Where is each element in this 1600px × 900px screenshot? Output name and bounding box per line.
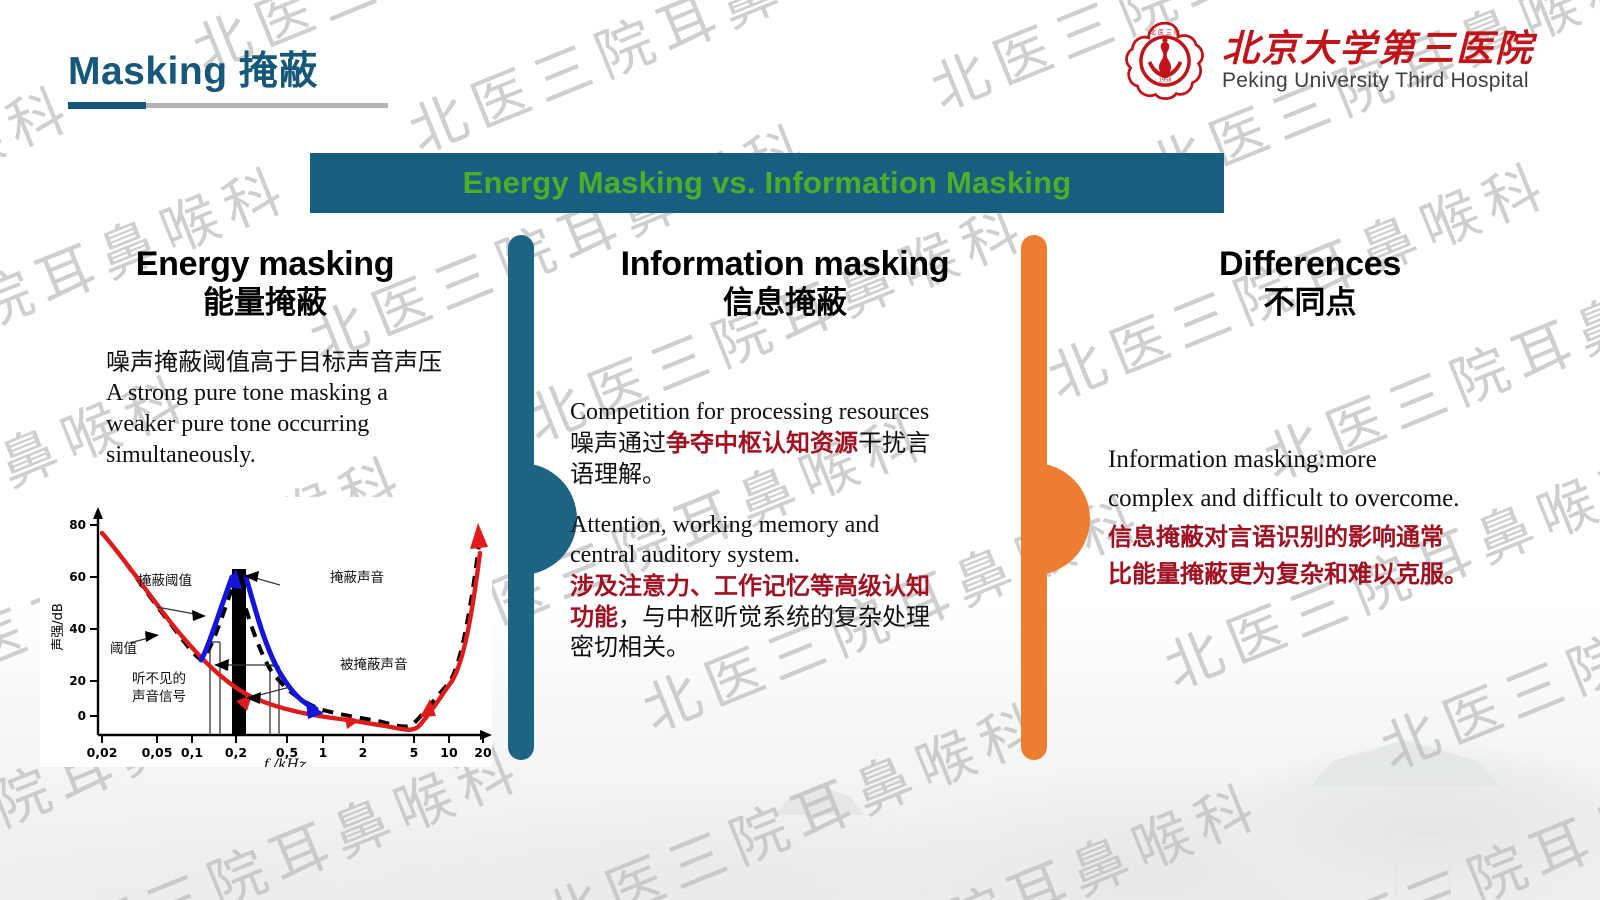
column-heading-cn: 信息掩蔽 [570, 283, 1000, 323]
section-banner: Energy Masking vs. Information Masking [310, 153, 1224, 213]
column-heading-en: Information masking [570, 245, 1000, 283]
column-heading-en: Differences [1090, 245, 1530, 283]
svg-text:声音信号: 声音信号 [132, 688, 186, 705]
svg-text:80: 80 [69, 518, 86, 532]
svg-text:阈值: 阈值 [110, 641, 137, 657]
hospital-logo-text: 北京大学第三医院 Peking University Third Hospita… [1222, 29, 1534, 94]
hospital-logo: 1958 北 医 三 院 北京大学第三医院 Peking University … [1122, 18, 1534, 104]
body-line: 语理解。 [570, 459, 1000, 490]
svg-text:40: 40 [69, 622, 86, 636]
column-heading: Differences 不同点 [1090, 245, 1530, 323]
background-gate-shape [1395, 836, 1451, 896]
body-line: 噪声掩蔽阈值高于目标声音声压 [106, 347, 490, 378]
column-heading-cn: 不同点 [1090, 283, 1530, 323]
body-line-mixed: 功能，与中枢听觉系统的复杂处理 [570, 602, 1000, 633]
svg-text:掩蔽声音: 掩蔽声音 [330, 569, 384, 586]
column-body: Competition for processing resources 噪声通… [570, 397, 1000, 663]
svg-text:0: 0 [78, 709, 86, 723]
column-differences: Differences 不同点 Information masking:more… [1090, 245, 1530, 593]
hospital-name-cn: 北京大学第三医院 [1222, 29, 1534, 68]
body-line-prefix: 噪声通过 [570, 429, 666, 457]
svg-text:听不见的: 听不见的 [132, 671, 186, 687]
svg-text:10: 10 [440, 745, 458, 760]
body-line-highlight: 功能 [570, 603, 618, 631]
body-line: Attention, working memory and [570, 510, 1000, 541]
paragraph-gap [570, 490, 1000, 510]
svg-text:f /kHz: f /kHz [263, 757, 307, 767]
body-line-highlight: 涉及注意力、工作记忆等高级认知 [570, 571, 1000, 602]
column-heading: Energy masking 能量掩蔽 [40, 245, 490, 323]
column-information-masking: Information masking 信息掩蔽 Competition for… [570, 245, 1000, 663]
svg-text:60: 60 [69, 570, 86, 584]
column-body: 噪声掩蔽阈值高于目标声音声压 A strong pure tone maskin… [40, 347, 490, 470]
body-line-suffix: ，与中枢听觉系统的复杂处理 [618, 603, 930, 631]
svg-text:1: 1 [319, 745, 328, 760]
background-roof-shape [1310, 740, 1500, 786]
svg-text:20: 20 [69, 674, 86, 688]
body-line: weaker pure tone occurring [106, 409, 490, 440]
svg-text:被掩蔽声音: 被掩蔽声音 [340, 656, 408, 673]
body-line: A strong pure tone masking a [106, 378, 490, 409]
body-line-highlight: 信息掩蔽对言语识别的影响通常 [1108, 519, 1530, 556]
body-line-mixed: 噪声通过争夺中枢认知资源干扰言 [570, 428, 1000, 459]
column-heading-en: Energy masking [40, 245, 490, 283]
body-line: 密切相关。 [570, 632, 1000, 663]
svg-text:北 医 三 院: 北 医 三 院 [1150, 28, 1180, 36]
column-heading: Information masking 信息掩蔽 [570, 245, 1000, 323]
svg-text:0,05: 0,05 [142, 745, 173, 760]
teal-divider-bulge [521, 463, 577, 575]
svg-text:0,02: 0,02 [87, 745, 118, 760]
body-line: central auditory system. [570, 540, 1000, 571]
svg-text:掩蔽阈值: 掩蔽阈值 [138, 573, 192, 589]
masking-threshold-chart: 80 60 40 20 0 0,02 0,05 0,1 0,2 0,5 1 [40, 497, 492, 767]
title-rule-accent [68, 102, 146, 109]
watermark-text: 北医三院耳鼻喉科 北医三院耳鼻喉科 北医三院耳鼻喉科 北医三院耳鼻喉科 北医三院… [142, 885, 1600, 900]
column-body: Information masking:more complex and dif… [1090, 441, 1530, 593]
svg-text:5: 5 [410, 745, 419, 760]
body-line: complex and difficult to overcome. [1108, 480, 1530, 519]
body-line-suffix: 干扰言 [858, 429, 930, 457]
svg-text:1958: 1958 [1158, 78, 1171, 84]
teal-divider-bar [508, 235, 534, 760]
column-energy-masking: Energy masking 能量掩蔽 噪声掩蔽阈值高于目标声音声压 A str… [40, 245, 490, 470]
orange-divider-bar [1021, 235, 1047, 760]
column-heading-cn: 能量掩蔽 [40, 283, 490, 323]
page-title: Masking 掩蔽 [68, 40, 318, 96]
orange-divider-bulge [1034, 463, 1090, 575]
body-line: Information masking:more [1108, 441, 1530, 480]
hospital-crest-icon: 1958 北 医 三 院 [1122, 18, 1208, 104]
background-roof-shape-small [775, 785, 865, 815]
hospital-name-en: Peking University Third Hospital [1222, 69, 1534, 93]
svg-text:20: 20 [474, 745, 492, 760]
section-banner-label: Energy Masking vs. Information Masking [463, 165, 1072, 201]
svg-text:0,1: 0,1 [181, 745, 203, 760]
svg-text:声强/dB: 声强/dB [51, 603, 66, 651]
body-line-highlight: 比能量掩蔽更为复杂和难以克服。 [1108, 556, 1530, 593]
body-line: simultaneously. [106, 440, 490, 471]
body-line: Competition for processing resources [570, 397, 1000, 428]
body-line-highlight: 争夺中枢认知资源 [666, 429, 858, 457]
svg-text:0,2: 0,2 [225, 745, 247, 760]
svg-text:2: 2 [359, 745, 368, 760]
